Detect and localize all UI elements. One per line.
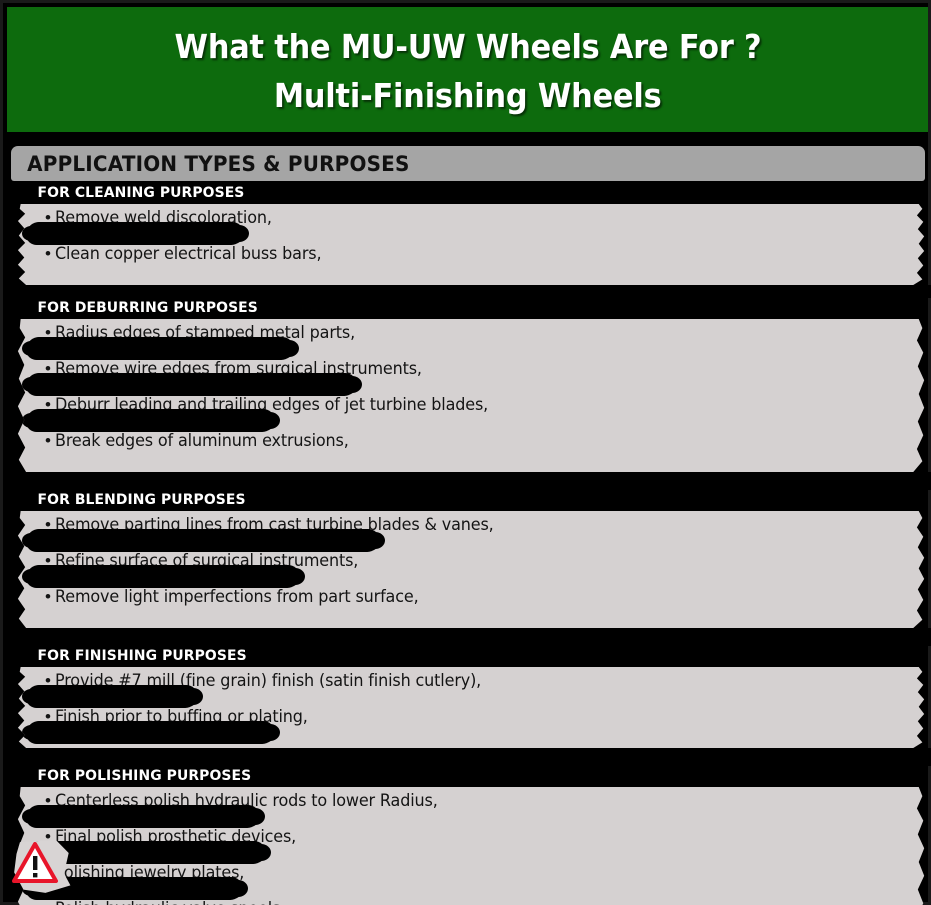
section-panel-finishing: •Provide #7 mill (fine grain) finish (sa… bbox=[17, 667, 926, 748]
section-panel-blending: •Remove parting lines from cast turbine … bbox=[17, 511, 926, 628]
bullet-text: Polish hydraulic valve spools, bbox=[55, 898, 285, 905]
list-item: •Radius edges of stamped metal parts, bbox=[17, 322, 926, 358]
title-banner: What the MU-UW Wheels Are For ? Multi-Fi… bbox=[7, 7, 928, 132]
bullet-line: •Clean copper electrical buss bars, bbox=[41, 243, 926, 266]
section-polishing: FOR POLISHING PURPOSES•Centerless polish… bbox=[3, 766, 931, 905]
bullet-line: •Polish hydraulic valve spools, bbox=[41, 898, 926, 905]
bullet-line: •Break edges of aluminum extrusions, bbox=[41, 430, 926, 453]
section-cleaning: FOR CLEANING PURPOSES•Remove weld discol… bbox=[3, 183, 931, 285]
list-item: •Remove parting lines from cast turbine … bbox=[17, 514, 926, 550]
section-finishing: FOR FINISHING PURPOSES•Provide #7 mill (… bbox=[3, 646, 931, 748]
application-types-bar: APPLICATION TYPES & PURPOSES bbox=[11, 146, 925, 181]
redaction-mark bbox=[29, 339, 291, 358]
section-panel-deburring: •Radius edges of stamped metal parts,•Re… bbox=[17, 319, 926, 472]
section-panel-polishing: •Centerless polish hydraulic rods to low… bbox=[17, 787, 926, 905]
section-gap bbox=[3, 628, 931, 646]
bullet-text: Remove light imperfections from part sur… bbox=[55, 586, 419, 607]
list-item: •Finish prior to buffing or plating, bbox=[17, 706, 926, 742]
list-item: •Polish hydraulic valve spools, bbox=[17, 898, 926, 905]
bullet-dot-icon: • bbox=[41, 588, 55, 605]
section-heading-finishing: FOR FINISHING PURPOSES bbox=[3, 646, 897, 667]
section-heading-polishing: FOR POLISHING PURPOSES bbox=[3, 766, 897, 787]
redaction-mark bbox=[29, 687, 195, 706]
section-heading-cleaning: FOR CLEANING PURPOSES bbox=[3, 183, 897, 204]
redaction-mark bbox=[29, 411, 272, 430]
sections-container: FOR CLEANING PURPOSES•Remove weld discol… bbox=[3, 183, 931, 905]
warning-triangle-icon bbox=[9, 836, 75, 898]
redaction-mark bbox=[29, 723, 272, 742]
redaction-mark bbox=[29, 567, 297, 586]
redaction-mark bbox=[29, 531, 377, 550]
slide-canvas: What the MU-UW Wheels Are For ? Multi-Fi… bbox=[0, 0, 931, 905]
title-line-1: What the MU-UW Wheels Are For ? bbox=[174, 22, 761, 71]
list-item: •Polishing jewelry plates, bbox=[17, 862, 926, 898]
bullet-text: Clean copper electrical buss bars, bbox=[55, 243, 321, 264]
list-item: •Remove weld discoloration, bbox=[17, 207, 926, 243]
list-item: •Remove wire edges from surgical instrum… bbox=[17, 358, 926, 394]
section-heading-blending: FOR BLENDING PURPOSES bbox=[3, 490, 897, 511]
warning-triangle-glyph bbox=[12, 842, 58, 884]
section-panel-cleaning: •Remove weld discoloration,•Clean copper… bbox=[17, 204, 926, 285]
bullet-line: •Remove light imperfections from part su… bbox=[41, 586, 926, 609]
bullet-dot-icon: • bbox=[41, 900, 55, 905]
list-item: •Remove light imperfections from part su… bbox=[17, 586, 926, 622]
redaction-mark bbox=[29, 807, 257, 826]
redaction-mark bbox=[29, 375, 354, 394]
application-types-label: APPLICATION TYPES & PURPOSES bbox=[11, 152, 410, 176]
redaction-mark bbox=[29, 224, 241, 243]
section-deburring: FOR DEBURRING PURPOSES•Radius edges of s… bbox=[3, 298, 931, 472]
list-item: •Refine surface of surgical instruments, bbox=[17, 550, 926, 586]
section-gap bbox=[3, 472, 931, 490]
list-item: •Deburr leading and trailing edges of je… bbox=[17, 394, 926, 430]
bullet-dot-icon: • bbox=[41, 432, 55, 449]
list-item: •Clean copper electrical buss bars, bbox=[17, 243, 926, 279]
section-heading-deburring: FOR DEBURRING PURPOSES bbox=[3, 298, 897, 319]
bullet-text: Break edges of aluminum extrusions, bbox=[55, 430, 349, 451]
section-blending: FOR BLENDING PURPOSES•Remove parting lin… bbox=[3, 490, 931, 628]
list-item: •Centerless polish hydraulic rods to low… bbox=[17, 790, 926, 826]
section-gap bbox=[3, 748, 931, 766]
bullet-dot-icon: • bbox=[41, 245, 55, 262]
section-gap bbox=[3, 285, 931, 298]
list-item: •Final polish prosthetic devices, bbox=[17, 826, 926, 862]
title-line-2: Multi-Finishing Wheels bbox=[274, 71, 662, 120]
list-item: •Break edges of aluminum extrusions, bbox=[17, 430, 926, 466]
list-item: •Provide #7 mill (fine grain) finish (sa… bbox=[17, 670, 926, 706]
